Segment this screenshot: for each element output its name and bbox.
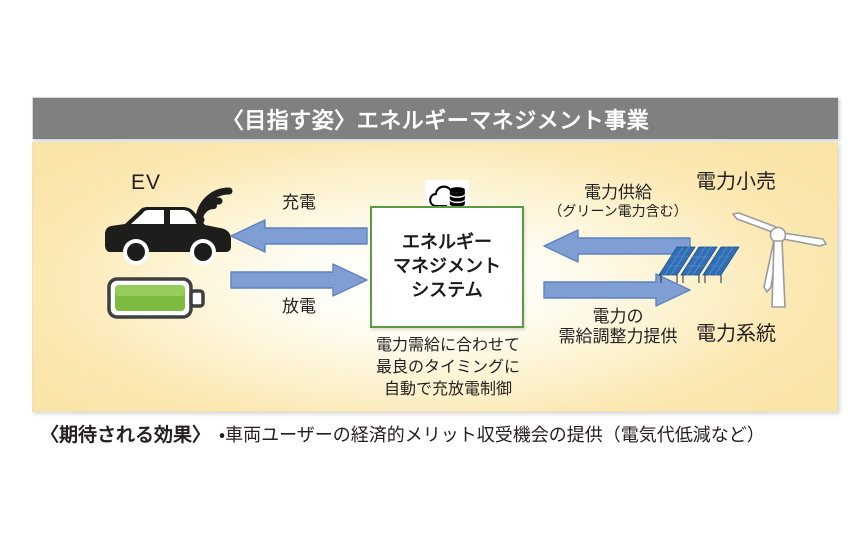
charge-arrow (229, 219, 369, 258)
ems-caption: 電力需給に合わせて 最良のタイミングに 自動で充放電制御 (345, 335, 551, 400)
battery-icon (107, 275, 207, 321)
energy-management-system-box: エネルギー マネジメント システム (370, 206, 524, 328)
generation-group: 電力小売 (651, 165, 826, 355)
expected-effects-heading: 〈期待される効果〉 (40, 420, 211, 447)
power-grid-label: 電力系統 (696, 317, 776, 346)
ev-flow-arrows: 充電 放電 (229, 193, 369, 333)
discharge-label: 放電 (267, 297, 331, 317)
ems-caption-line-3: 自動で充放電制御 (345, 379, 551, 401)
page-title: 〈目指す姿〉エネルギーマネジメント事業 (222, 103, 650, 135)
diagram-panel: EV (32, 142, 838, 412)
slide-canvas: 〈目指す姿〉エネルギーマネジメント事業 EV (0, 0, 862, 539)
ems-line-3: システム (411, 279, 482, 303)
wind-turbine-icon (731, 195, 827, 317)
ems-line-1: エネルギー (402, 231, 492, 255)
ems-line-2: マネジメント (393, 255, 501, 279)
ems-caption-line-2: 最良のタイミングに (345, 357, 551, 379)
power-retail-label: 電力小売 (696, 165, 776, 194)
ev-label: EV (131, 171, 161, 195)
expected-effects-footer: 〈期待される効果〉 ・車両ユーザーの経済的メリット収受機会の提供（電気代低減など… (40, 420, 840, 447)
title-bar: 〈目指す姿〉エネルギーマネジメント事業 (32, 97, 838, 139)
charge-label: 充電 (267, 193, 331, 213)
ems-caption-line-1: 電力需給に合わせて (345, 335, 551, 357)
expected-effects-body: ・車両ユーザーの経済的メリット収受機会の提供（電気代低減など） (219, 421, 765, 447)
